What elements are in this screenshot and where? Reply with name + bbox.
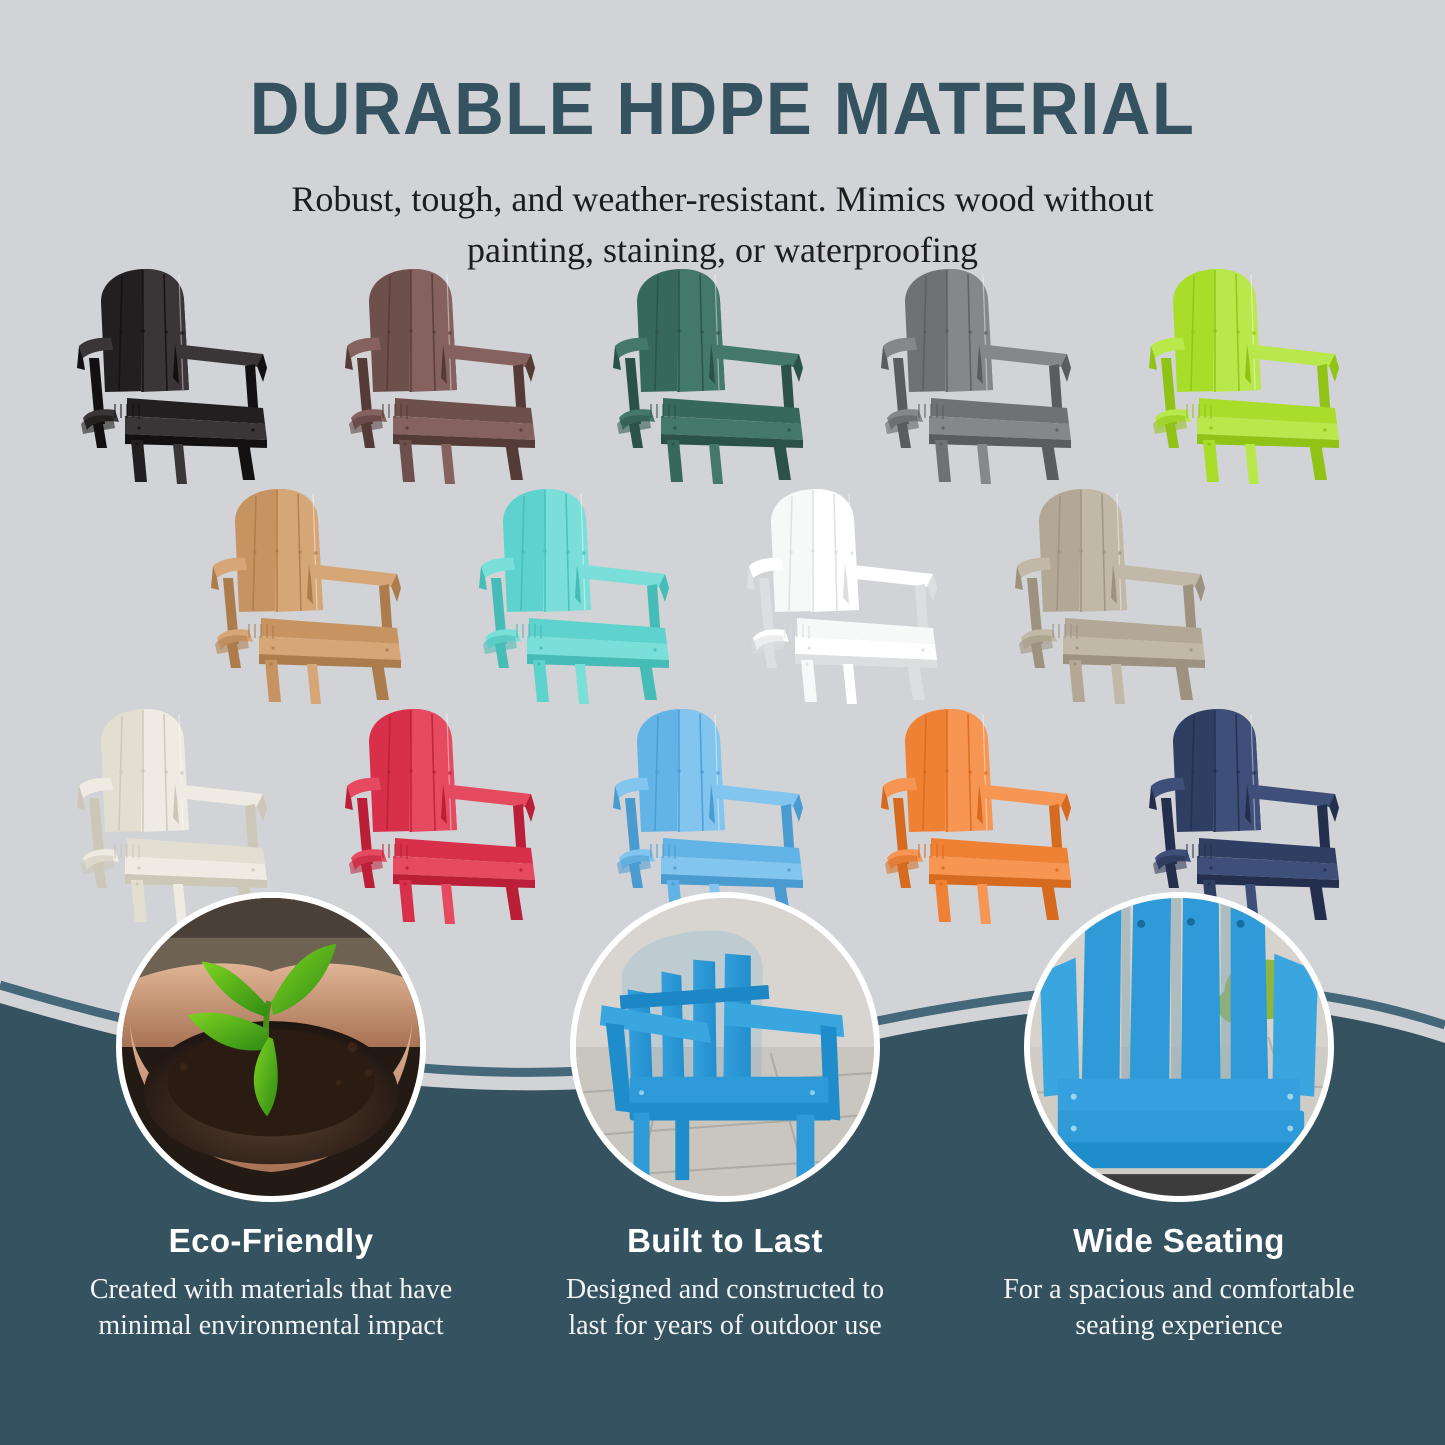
chair-graphic bbox=[469, 478, 709, 706]
feature-desc-line-1: Created with materials that have bbox=[90, 1274, 452, 1305]
chair-color-grid bbox=[0, 258, 1445, 926]
chair-graphic bbox=[1005, 478, 1245, 706]
chair-graphic bbox=[871, 258, 1111, 486]
wide-seat-closeup-photo bbox=[1024, 892, 1334, 1202]
feature-desc-line-2: minimal environmental impact bbox=[98, 1310, 443, 1341]
feature-title: Wide Seating bbox=[944, 1222, 1414, 1260]
chair-graphic bbox=[335, 258, 575, 486]
chair-swatch-white[interactable] bbox=[737, 478, 977, 706]
infographic-canvas: DURABLE HDPE MATERIAL Robust, tough, and… bbox=[0, 0, 1445, 1445]
chair-graphic bbox=[201, 478, 441, 706]
feature-desc-line-2: seating experience bbox=[1075, 1310, 1283, 1341]
chair-graphic bbox=[1139, 258, 1379, 486]
feature-wide-seating: Wide Seating For a spacious and comforta… bbox=[944, 1222, 1414, 1345]
feature-description: Created with materials that have minimal… bbox=[36, 1272, 506, 1345]
chair-graphic bbox=[737, 478, 977, 706]
subtitle-line-1: Robust, tough, and weather-resistant. Mi… bbox=[223, 174, 1223, 225]
feature-desc-line-2: last for years of outdoor use bbox=[568, 1310, 881, 1341]
chair-graphic bbox=[67, 258, 307, 486]
feature-desc-line-1: For a spacious and comfortable bbox=[1003, 1274, 1354, 1305]
feature-description: For a spacious and comfortable seating e… bbox=[944, 1272, 1414, 1345]
feature-desc-line-1: Designed and constructed to bbox=[566, 1274, 884, 1305]
chair-row-1 bbox=[0, 258, 1445, 486]
chair-swatch-dark-green[interactable] bbox=[603, 258, 843, 486]
eco-seedling-photo bbox=[116, 892, 426, 1202]
blue-chair-patio-photo bbox=[570, 892, 880, 1202]
chair-swatch-turquoise[interactable] bbox=[469, 478, 709, 706]
header: DURABLE HDPE MATERIAL Robust, tough, and… bbox=[0, 70, 1445, 276]
feature-title: Built to Last bbox=[490, 1222, 960, 1260]
feature-title: Eco-Friendly bbox=[36, 1222, 506, 1260]
chair-swatch-teak[interactable] bbox=[201, 478, 441, 706]
chair-swatch-black[interactable] bbox=[67, 258, 307, 486]
page-title: DURABLE HDPE MATERIAL bbox=[51, 70, 1395, 148]
chair-swatch-weathered-wood[interactable] bbox=[1005, 478, 1245, 706]
feature-photos bbox=[0, 886, 1445, 1226]
feature-eco-friendly: Eco-Friendly Created with materials that… bbox=[36, 1222, 506, 1345]
chair-swatch-brown[interactable] bbox=[335, 258, 575, 486]
chair-swatch-gray[interactable] bbox=[871, 258, 1111, 486]
chair-row-2 bbox=[0, 478, 1445, 706]
chair-swatch-lime-green[interactable] bbox=[1139, 258, 1379, 486]
feature-built-to-last: Built to Last Designed and constructed t… bbox=[490, 1222, 960, 1345]
feature-description: Designed and constructed to last for yea… bbox=[490, 1272, 960, 1345]
feature-captions: Eco-Friendly Created with materials that… bbox=[0, 1222, 1445, 1402]
chair-graphic bbox=[603, 258, 843, 486]
